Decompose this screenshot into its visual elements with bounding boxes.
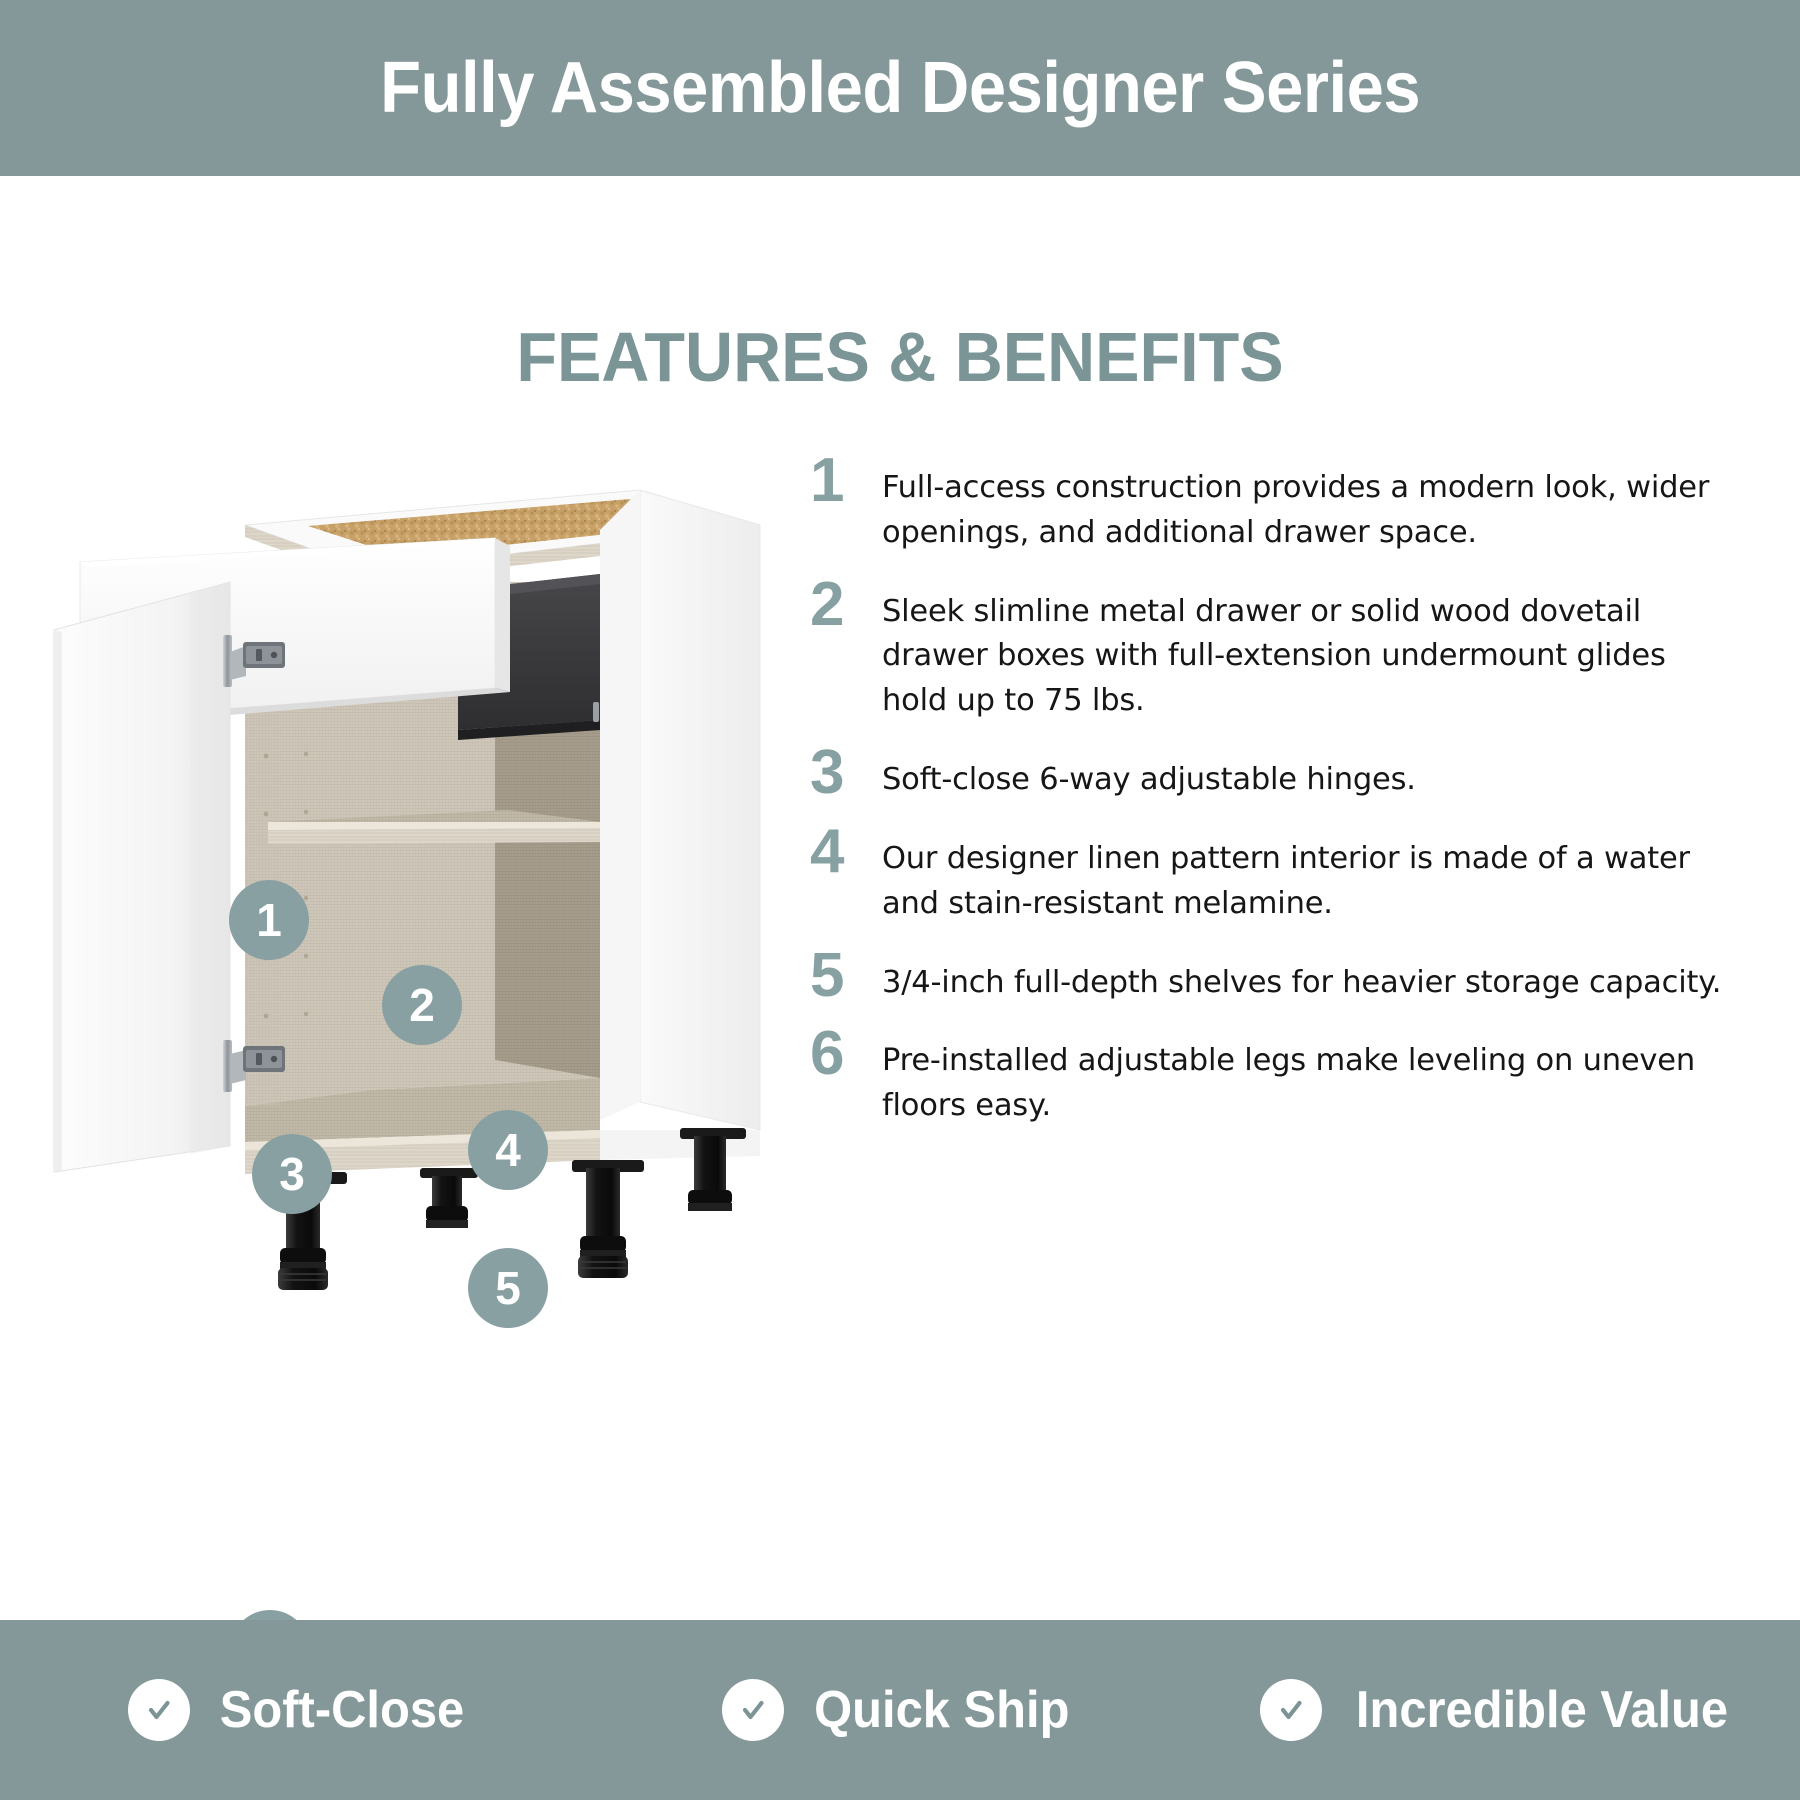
footer-item-soft-close: Soft-Close [0, 1679, 600, 1741]
check-circle-icon [128, 1679, 190, 1741]
footer-band: Soft-Close Quick Ship Incredible Value [0, 1620, 1800, 1800]
feature-number-4: 4 [810, 821, 882, 880]
feature-number-3: 3 [810, 742, 882, 801]
feature-number-1: 1 [810, 450, 882, 509]
feature-text-4: Our designer linen pattern interior is m… [882, 821, 1740, 927]
header-band: Fully Assembled Designer Series [0, 0, 1800, 176]
cabinet-svg [40, 430, 800, 1390]
section-heading: FEATURES & BENEFITS [45, 322, 1755, 392]
page-title: Fully Assembled Designer Series [380, 52, 1420, 124]
footer-label-soft-close: Soft-Close [220, 1684, 464, 1736]
cabinet-door [54, 580, 245, 1172]
feature-item-3: 3 Soft-close 6-way adjustable hinges. [810, 742, 1740, 803]
feature-item-2: 2 Sleek slimline metal drawer or solid w… [810, 574, 1740, 724]
feature-number-6: 6 [810, 1023, 882, 1082]
callout-badge-5[interactable]: 5 [468, 1248, 548, 1328]
feature-text-3: Soft-close 6-way adjustable hinges. [882, 742, 1740, 803]
feature-item-5: 5 3/4-inch full-depth shelves for heavie… [810, 945, 1740, 1006]
feature-text-6: Pre-installed adjustable legs make level… [882, 1023, 1740, 1129]
footer-label-incredible-value: Incredible Value [1356, 1684, 1728, 1736]
footer-label-quick-ship: Quick Ship [814, 1684, 1069, 1736]
feature-item-1: 1 Full-access construction provides a mo… [810, 450, 1740, 556]
feature-number-2: 2 [810, 574, 882, 633]
adjustable-leg-center [420, 1168, 478, 1228]
feature-text-5: 3/4-inch full-depth shelves for heavier … [882, 945, 1740, 1006]
feature-item-6: 6 Pre-installed adjustable legs make lev… [810, 1023, 1740, 1129]
check-circle-icon [1260, 1679, 1322, 1741]
feature-text-2: Sleek slimline metal drawer or solid woo… [882, 574, 1740, 724]
feature-text-1: Full-access construction provides a mode… [882, 450, 1740, 556]
callout-badge-2[interactable]: 2 [382, 965, 462, 1045]
footer-item-incredible-value: Incredible Value [1200, 1679, 1800, 1741]
footer-item-quick-ship: Quick Ship [600, 1679, 1200, 1741]
feature-number-5: 5 [810, 945, 882, 1004]
callout-badge-3[interactable]: 3 [252, 1134, 332, 1214]
check-circle-icon [722, 1679, 784, 1741]
product-illustration: 1 2 3 4 5 6 [40, 430, 800, 1390]
adjustable-leg-front-right [572, 1160, 644, 1278]
callout-badge-4[interactable]: 4 [468, 1110, 548, 1190]
features-list: 1 Full-access construction provides a mo… [810, 450, 1740, 1147]
callout-badge-1[interactable]: 1 [229, 880, 309, 960]
feature-item-4: 4 Our designer linen pattern interior is… [810, 821, 1740, 927]
